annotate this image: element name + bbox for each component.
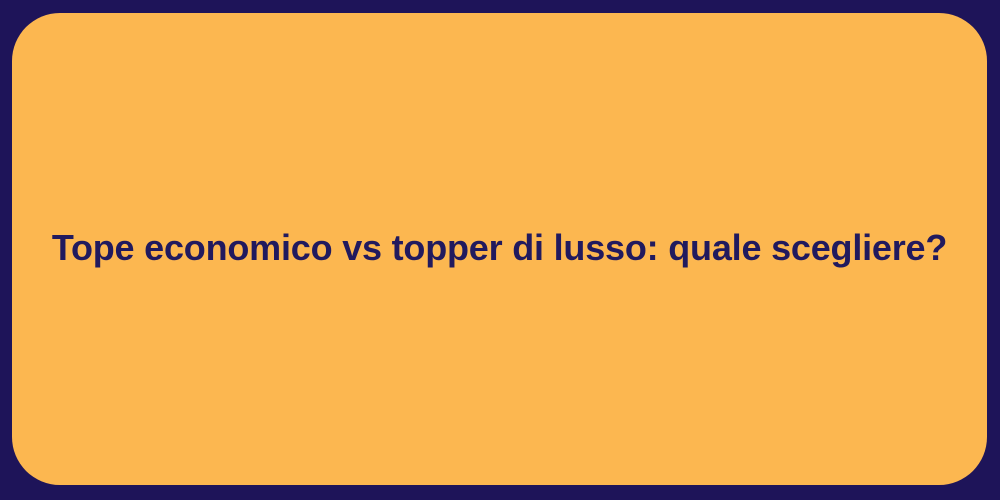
banner-content-panel: Tope economico vs topper di lusso: quale… xyxy=(12,13,987,485)
banner-frame: Tope economico vs topper di lusso: quale… xyxy=(0,0,1000,500)
banner-title: Tope economico vs topper di lusso: quale… xyxy=(12,225,987,270)
